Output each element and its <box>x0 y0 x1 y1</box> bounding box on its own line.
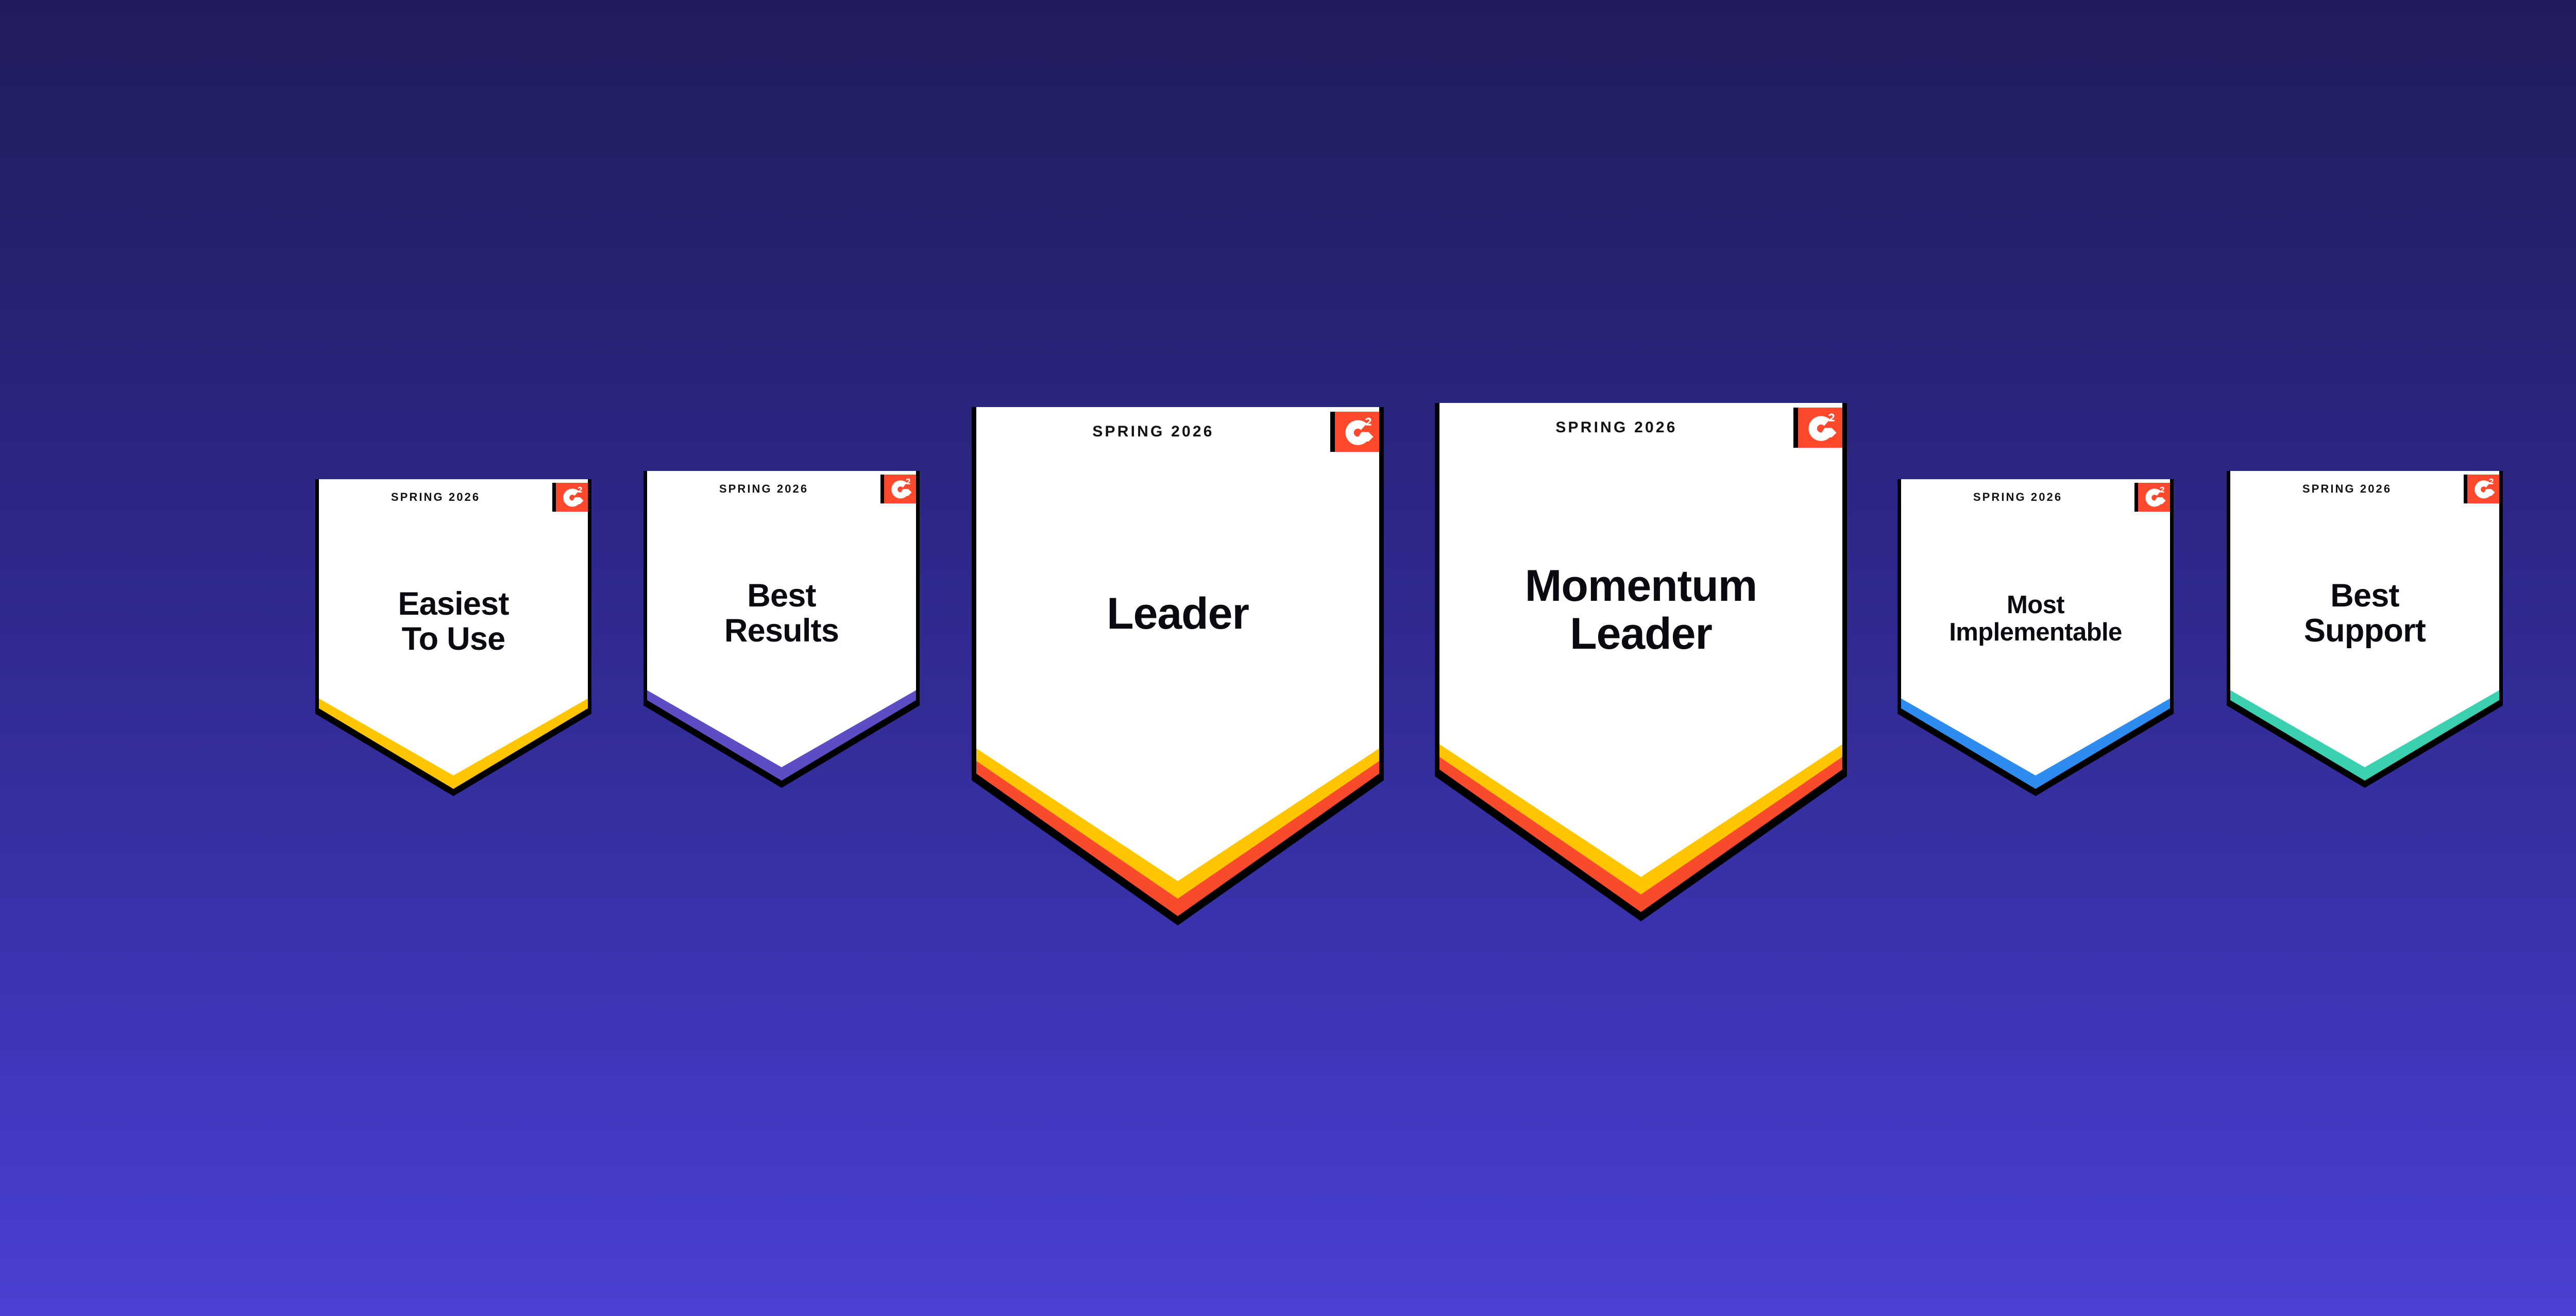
g2-logo-glyph <box>1803 410 1838 446</box>
badge-header: SPRING 2026 <box>319 483 588 512</box>
badge-header: SPRING 2026 <box>976 412 1379 452</box>
badge-title: Best Results <box>643 578 920 648</box>
award-badge-best-support[interactable]: SPRING 2026 Best Support <box>2227 471 2503 788</box>
badge-header: SPRING 2026 <box>647 475 916 503</box>
g2-logo-icon <box>1798 408 1842 448</box>
g2-logo-glyph <box>2141 484 2167 510</box>
g2-logo-icon <box>1335 412 1379 452</box>
award-badge-most-implementable[interactable]: SPRING 2026 Most Implementable <box>1897 479 2174 796</box>
badge-title: Most Implementable <box>1897 592 2174 646</box>
season-label: SPRING 2026 <box>2230 475 2464 503</box>
badge-title: Leader <box>972 590 1384 638</box>
award-badge-easiest-to-use[interactable]: SPRING 2026 Easiest To Use <box>315 479 591 796</box>
g2-logo-glyph <box>559 484 585 510</box>
g2-logo-icon <box>2467 475 2499 503</box>
season-label: SPRING 2026 <box>1439 408 1793 448</box>
badge-header: SPRING 2026 <box>1439 408 1842 448</box>
season-label: SPRING 2026 <box>319 483 552 512</box>
g2-logo-icon <box>556 483 588 512</box>
award-badge-momentum-leader[interactable]: SPRING 2026 Momentum Leader <box>1435 403 1847 921</box>
season-label: SPRING 2026 <box>647 475 880 503</box>
badge-header: SPRING 2026 <box>2230 475 2499 503</box>
g2-logo-glyph <box>2470 476 2496 502</box>
g2-logo-glyph <box>1340 414 1375 450</box>
award-badge-best-results[interactable]: SPRING 2026 Best Results <box>643 471 920 788</box>
season-label: SPRING 2026 <box>1901 483 2134 512</box>
g2-badges-banner: SPRING 2026 Easiest To Use SPRING 2026 <box>0 0 2576 1316</box>
award-badge-leader[interactable]: SPRING 2026 Leader <box>972 407 1384 925</box>
g2-logo-icon <box>2138 483 2170 512</box>
g2-logo-icon <box>884 475 916 503</box>
badge-title: Momentum Leader <box>1435 562 1847 658</box>
season-label: SPRING 2026 <box>976 412 1330 452</box>
badge-title: Best Support <box>2227 578 2503 648</box>
badge-header: SPRING 2026 <box>1901 483 2170 512</box>
g2-logo-glyph <box>887 476 913 502</box>
badge-title: Easiest To Use <box>315 586 591 656</box>
